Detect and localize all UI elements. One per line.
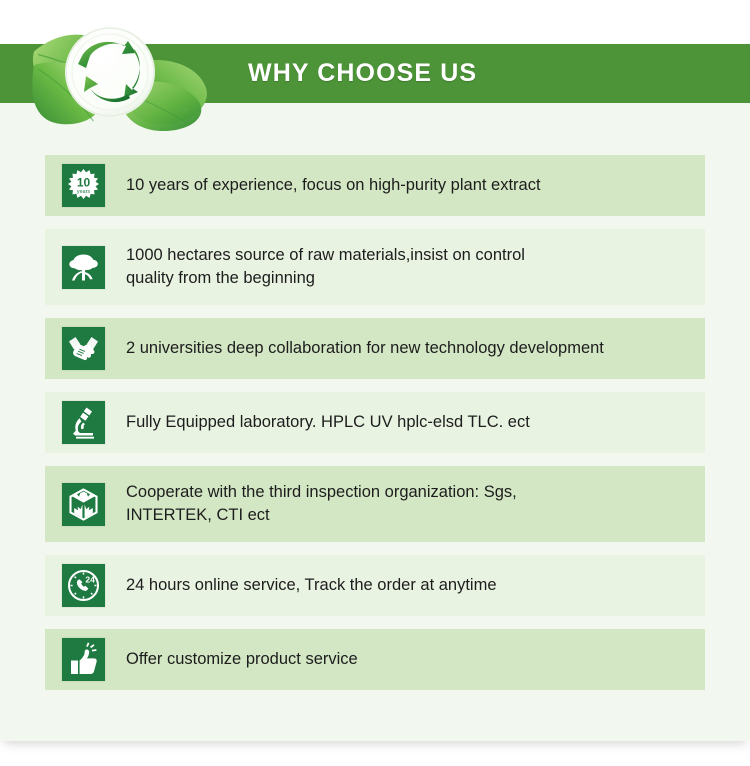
cube-box-icon <box>62 483 105 526</box>
thumbs-up-icon <box>62 638 105 681</box>
list-item-label: 2 universities deep collaboration for ne… <box>126 337 604 360</box>
list-item: Offer customize product service <box>45 629 705 690</box>
list-item: Cooperate with the third inspection orga… <box>45 466 705 542</box>
list-item-label: 1000 hectares source of raw materials,in… <box>126 244 525 290</box>
handshake-icon <box>62 327 105 370</box>
microscope-icon <box>62 401 105 444</box>
list-item: 1000 hectares source of raw materials,in… <box>45 229 705 305</box>
list-item-label: Fully Equipped laboratory. HPLC UV hplc-… <box>126 411 530 434</box>
content-card: WHY CHOOSE US <box>0 0 750 741</box>
ten-years-badge-icon: 10 years <box>62 164 105 207</box>
icon-number: 24 <box>85 575 95 585</box>
brand-logo <box>10 12 225 137</box>
list-item-label: Cooperate with the third inspection orga… <box>126 481 517 527</box>
leaf-recycle-logo-icon <box>10 12 225 137</box>
why-choose-us-panel: WHY CHOOSE US <box>0 0 750 766</box>
list-item: 2 universities deep collaboration for ne… <box>45 318 705 379</box>
list-item: 24 24 hours online service, Track the or… <box>45 555 705 616</box>
feature-list: 10 years 10 years of experience, focus o… <box>45 155 705 703</box>
list-item: 10 years 10 years of experience, focus o… <box>45 155 705 216</box>
section-title: WHY CHOOSE US <box>248 44 477 103</box>
list-item: Fully Equipped laboratory. HPLC UV hplc-… <box>45 392 705 453</box>
list-item-label: 24 hours online service, Track the order… <box>126 574 497 597</box>
list-item-label: 10 years of experience, focus on high-pu… <box>126 174 541 197</box>
tree-icon <box>62 246 105 289</box>
icon-unit: years <box>77 189 90 195</box>
list-item-label: Offer customize product service <box>126 648 358 671</box>
clock-phone-24-icon: 24 <box>62 564 105 607</box>
icon-number: 10 <box>77 176 91 190</box>
